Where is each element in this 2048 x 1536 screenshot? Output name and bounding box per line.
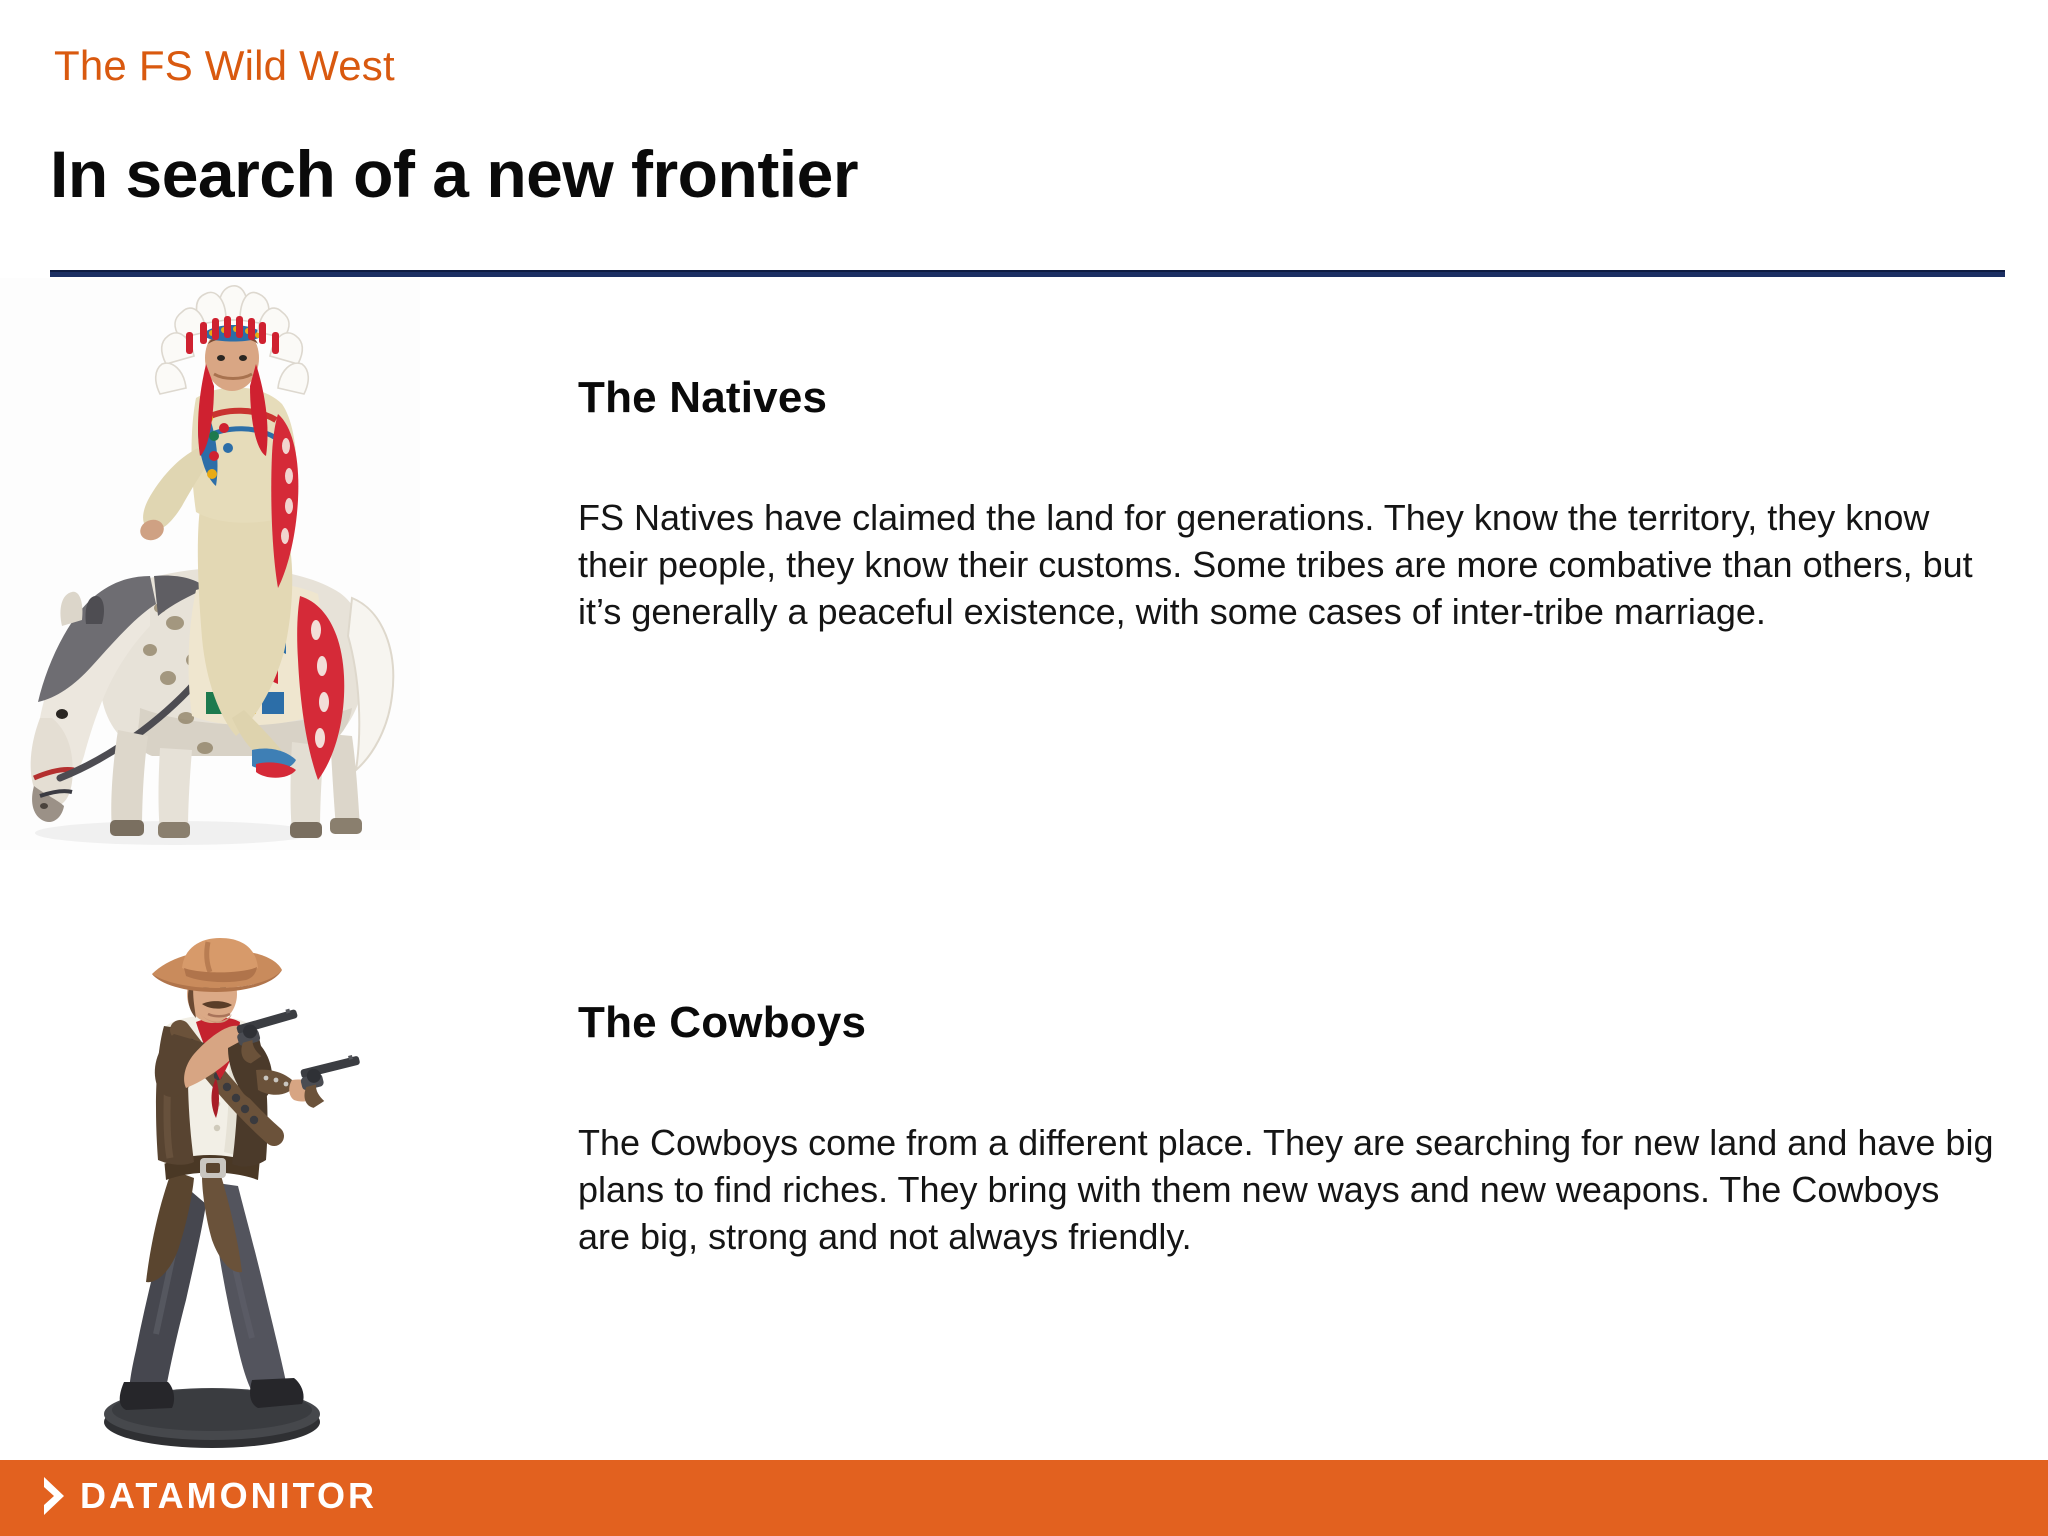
section-heading-cowboys: The Cowboys [578, 998, 866, 1048]
slide: The FS Wild West In search of a new fron… [0, 0, 2048, 1536]
page-title: In search of a new frontier [50, 136, 858, 212]
section-body-natives: FS Natives have claimed the land for gen… [578, 494, 1998, 635]
footer-bar: DATAMONITOR [0, 1460, 2048, 1536]
title-divider [50, 270, 2005, 277]
chevron-right-icon [42, 1475, 68, 1517]
native-chief-on-horse-figurine [0, 278, 420, 850]
section-heading-natives: The Natives [578, 373, 827, 423]
brand-name: DATAMONITOR [80, 1474, 377, 1518]
brand-logo: DATAMONITOR [42, 1474, 377, 1518]
cowboy-with-pistols-figurine [60, 930, 380, 1452]
section-body-cowboys: The Cowboys come from a different place.… [578, 1119, 1998, 1260]
slide-eyebrow: The FS Wild West [54, 42, 395, 90]
